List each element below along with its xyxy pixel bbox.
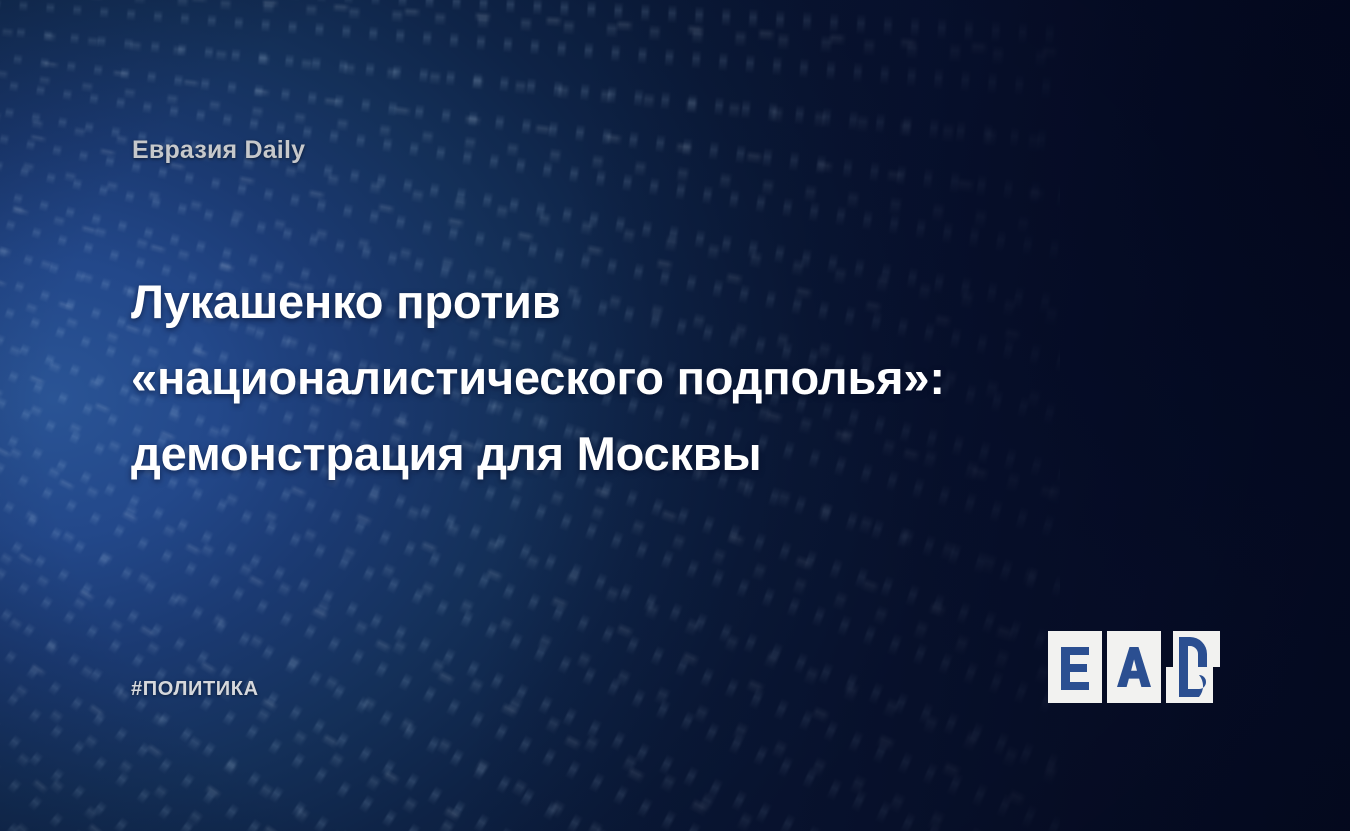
logo-tile-e [1048,631,1102,703]
logo-tile-a [1107,631,1161,703]
article-cover-card: Евразия Daily Лукашенко против «национал… [0,0,1350,831]
ead-logo[interactable] [1048,631,1220,703]
article-headline: Лукашенко против «националистического по… [131,264,1131,492]
category-hashtag[interactable]: #ПОЛИТИКА [131,678,259,701]
logo-d-upper-half [1173,631,1220,667]
headline-line-2: «националистического подполья»: [131,340,1131,416]
headline-line-1: Лукашенко против [131,264,1131,340]
headline-line-3: демонстрация для Москвы [131,416,1131,492]
logo-tile-d [1166,631,1220,703]
brand-wordmark: Евразия Daily [132,136,305,165]
logo-d-lower-half [1166,667,1213,703]
